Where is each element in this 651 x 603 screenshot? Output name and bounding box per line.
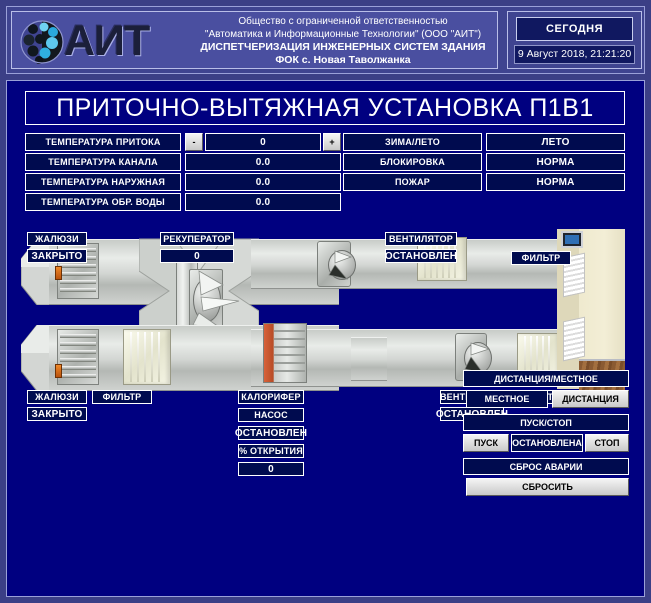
state-exhaust-fan: ОСТАНОВЛЕН xyxy=(385,249,457,263)
temperature-table: ТЕМПЕРАТУРА ПРИТОКА - 0 + ТЕМПЕРАТУРА КА… xyxy=(25,133,335,213)
start-button[interactable]: ПУСК xyxy=(463,434,509,452)
temp-value-3: 0.0 xyxy=(185,193,341,211)
today-button[interactable]: СЕГОДНЯ xyxy=(516,17,633,41)
value-valve-percent: 0 xyxy=(238,462,304,476)
label-pump: НАСОС xyxy=(238,408,304,422)
supply-duct-stub xyxy=(351,337,387,381)
status-label-2: ПОЖАР xyxy=(343,173,482,191)
mode-header: ДИСТАНЦИЯ/МЕСТНОЕ xyxy=(463,370,629,387)
remote-mode-button[interactable]: ДИСТАНЦИЯ xyxy=(552,390,629,408)
run-stop-header: ПУСК/СТОП xyxy=(463,414,629,431)
label-heater: КАЛОРИФЕР xyxy=(238,390,304,404)
value-recuperator: 0 xyxy=(160,249,234,263)
globe-mosaic-icon xyxy=(20,20,64,64)
main-panel: ПРИТОЧНО-ВЫТЯЖНАЯ УСТАНОВКА П1В1 ТЕМПЕРА… xyxy=(6,80,645,597)
reset-alarm-header: СБРОС АВАРИИ xyxy=(463,458,629,475)
wall-control-unit-icon xyxy=(561,231,583,248)
temp-value-2: 0.0 xyxy=(185,173,341,191)
supply-temp-minus-button[interactable]: - xyxy=(185,133,203,151)
mode-state: МЕСТНОЕ xyxy=(466,390,548,408)
hmi-screen: АИТ Общество с ограниченной ответственно… xyxy=(0,0,651,603)
status-table: ЗИМА/ЛЕТО ЛЕТО БЛОКИРОВКА НОРМА ПОЖАР НО… xyxy=(343,133,625,193)
label-recuperator: РЕКУПЕРАТОР xyxy=(160,232,234,246)
heater-coil-graphic[interactable] xyxy=(263,323,307,383)
company-line-2: "Автоматика и Информационные Технологии"… xyxy=(192,29,494,42)
status-value-0: ЛЕТО xyxy=(486,133,625,151)
temp-label-2: ТЕМПЕРАТУРА НАРУЖНАЯ xyxy=(25,173,181,191)
temp-label-0: ТЕМПЕРАТУРА ПРИТОКА xyxy=(25,133,181,151)
control-panel: ДИСТАНЦИЯ/МЕСТНОЕ МЕСТНОЕ ДИСТАНЦИЯ ПУСК… xyxy=(463,370,629,500)
reset-alarm-button[interactable]: СБРОСИТЬ xyxy=(466,478,629,496)
state-supply-damper: ЗАКРЫТО xyxy=(27,407,87,421)
state-exhaust-damper: ЗАКРЫТО xyxy=(27,249,87,263)
datetime-panel: СЕГОДНЯ 9 Август 2018, 21:21:20 xyxy=(507,11,642,69)
label-exhaust-damper: ЖАЛЮЗИ xyxy=(27,232,87,246)
temp-label-3: ТЕМПЕРАТУРА ОБР. ВОДЫ xyxy=(25,193,181,211)
company-logo: АИТ xyxy=(20,14,190,68)
status-value-2: НОРМА xyxy=(486,173,625,191)
logo-text: АИТ xyxy=(64,16,190,66)
company-line-3: ДИСПЕТЧЕРИЗАЦИЯ ИНЖЕНЕРНЫХ СИСТЕМ ЗДАНИЯ xyxy=(192,41,494,54)
company-line-4: ФОК с. Новая Таволжанка xyxy=(192,54,494,67)
supply-prefilter-graphic[interactable] xyxy=(123,329,171,385)
stop-button[interactable]: СТОП xyxy=(585,434,629,452)
state-pump: ОСТАНОВЛЕН xyxy=(238,426,304,440)
run-state: ОСТАНОВЛЕНА xyxy=(511,434,583,452)
status-label-1: БЛОКИРОВКА xyxy=(343,153,482,171)
current-datetime: 9 Август 2018, 21:21:20 xyxy=(514,45,635,64)
company-info: Общество с ограниченной ответственностью… xyxy=(192,16,494,66)
exhaust-fan-blade-icon xyxy=(321,243,361,287)
supply-damper-graphic[interactable] xyxy=(57,329,99,385)
page-title: ПРИТОЧНО-ВЫТЯЖНАЯ УСТАНОВКА П1В1 xyxy=(25,91,625,125)
supply-temp-value: 0 xyxy=(205,133,321,151)
label-valve-percent: % ОТКРЫТИЯ xyxy=(238,444,304,458)
supply-inlet-cone xyxy=(21,325,51,391)
label-exhaust-fan: ВЕНТИЛЯТОР xyxy=(385,232,457,246)
supply-temp-plus-button[interactable]: + xyxy=(323,133,341,151)
room-grille-lower xyxy=(563,317,585,362)
temp-label-1: ТЕМПЕРАТУРА КАНАЛА xyxy=(25,153,181,171)
header-bar: АИТ Общество с ограниченной ответственно… xyxy=(6,6,645,74)
label-supply-filter: ФИЛЬТР xyxy=(92,390,152,404)
label-supply-damper: ЖАЛЮЗИ xyxy=(27,390,87,404)
company-line-1: Общество с ограниченной ответственностью xyxy=(192,16,494,29)
header-company-panel: АИТ Общество с ограниченной ответственно… xyxy=(11,11,498,69)
status-label-0: ЗИМА/ЛЕТО xyxy=(343,133,482,151)
status-value-1: НОРМА xyxy=(486,153,625,171)
label-exhaust-filter: ФИЛЬТР xyxy=(511,251,571,265)
temp-value-1: 0.0 xyxy=(185,153,341,171)
